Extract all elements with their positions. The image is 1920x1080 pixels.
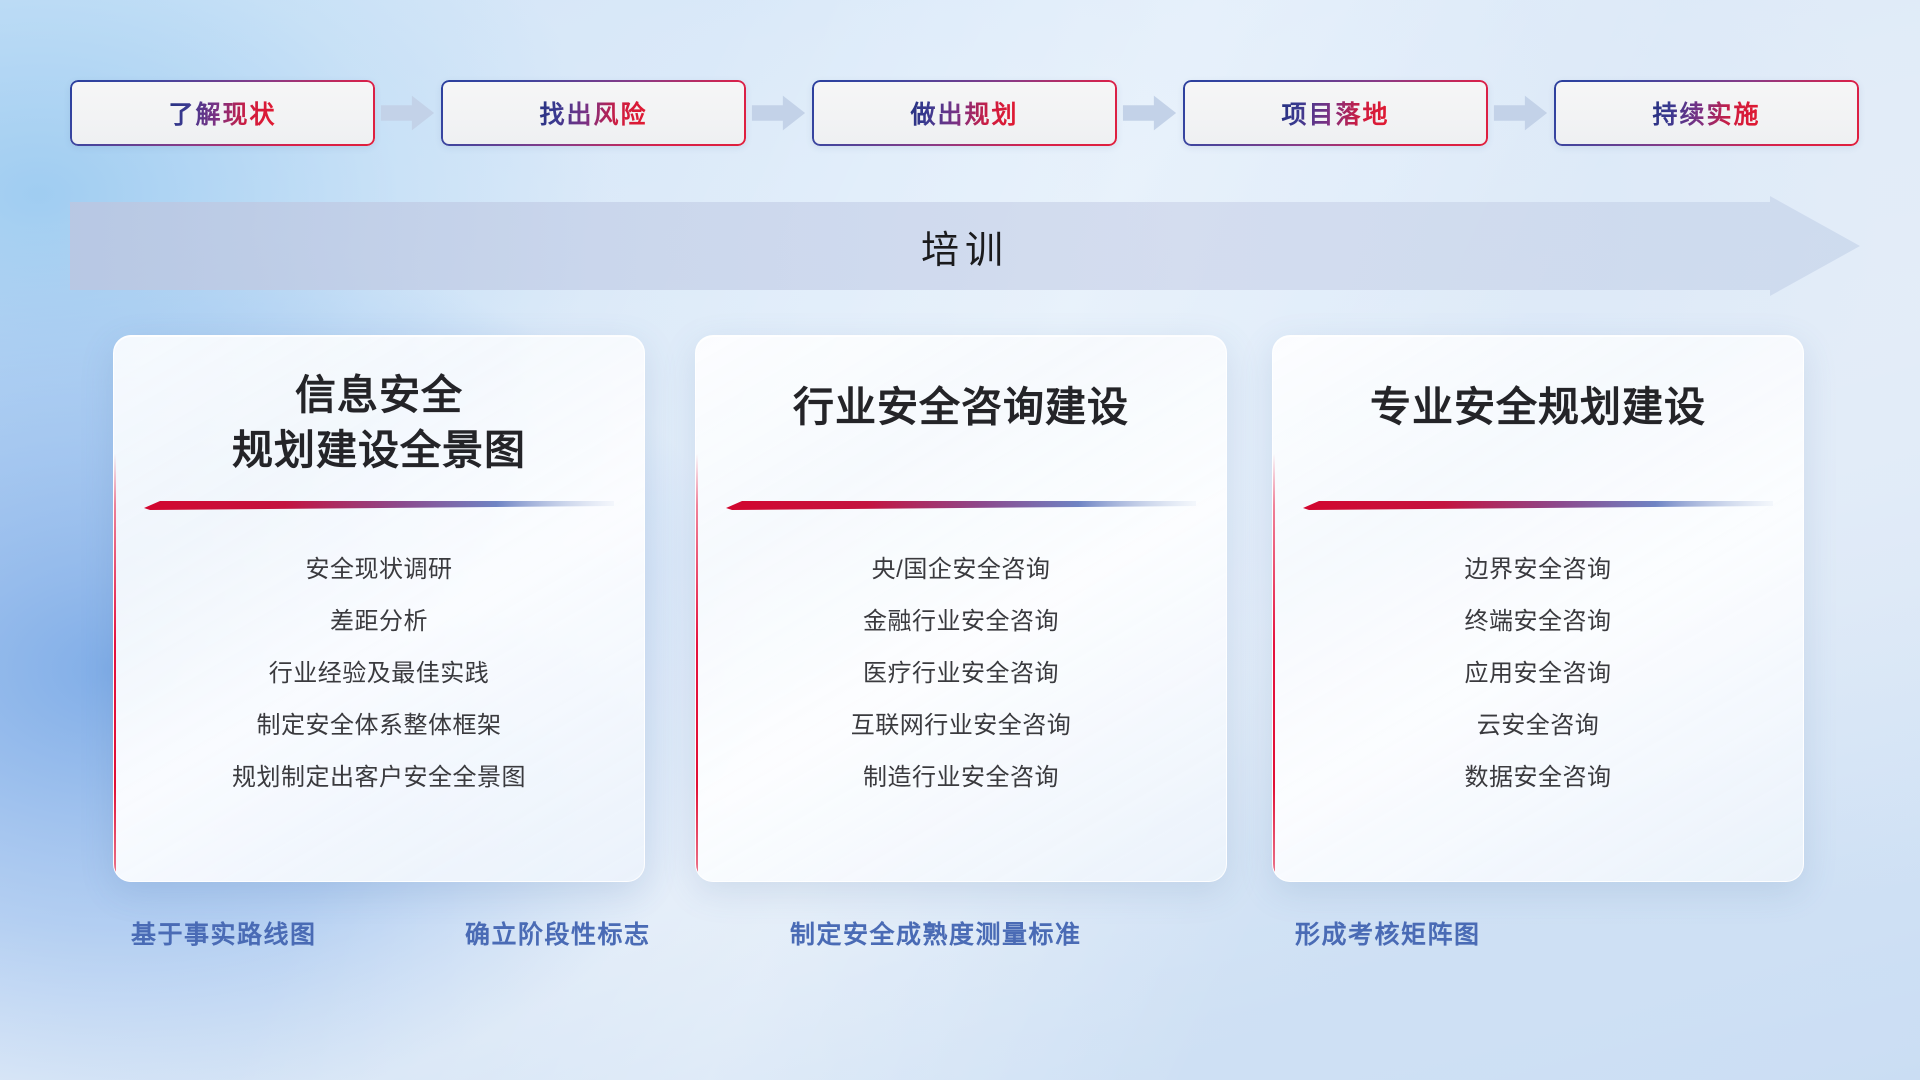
- card-divider: [1303, 499, 1773, 511]
- banner-label-wrap: 培训: [70, 196, 1860, 296]
- card-list-item: 差距分析: [140, 610, 618, 634]
- card-professional-security-planning[interactable]: 专业安全规划建设: [1272, 335, 1804, 882]
- card-divider: [726, 499, 1196, 511]
- caption-text: 形成考核矩阵图: [1295, 915, 1481, 951]
- step-arrow-icon-3: [1117, 92, 1183, 134]
- card-list-item: 终端安全咨询: [1299, 610, 1777, 634]
- card-list-item: 边界安全咨询: [1299, 558, 1777, 582]
- card-list-item: 互联网行业安全咨询: [722, 714, 1200, 738]
- caption-text: 基于事实路线图: [131, 915, 317, 951]
- process-step-3[interactable]: 做出规划: [812, 80, 1117, 146]
- card-list-item: 应用安全咨询: [1299, 662, 1777, 686]
- card-information-security-blueprint[interactable]: 信息安全 规划建设全景图: [113, 335, 645, 882]
- caption-text: 制定安全成熟度测量标准: [790, 915, 1082, 951]
- card-title-line: 专业安全规划建设: [1297, 380, 1779, 435]
- process-step-row: 了解现状 找出风险 做出规划 项目落地: [70, 78, 1860, 148]
- card-list-item: 金融行业安全咨询: [722, 610, 1200, 634]
- card-row: 信息安全 规划建设全景图: [0, 335, 1920, 890]
- step-arrow-icon-4: [1488, 92, 1554, 134]
- card-list-item: 央/国企安全咨询: [722, 558, 1200, 582]
- card-title: 行业安全咨询建设: [696, 380, 1226, 435]
- card-title: 信息安全 规划建设全景图: [114, 368, 644, 478]
- card-item-list: 央/国企安全咨询 金融行业安全咨询 医疗行业安全咨询 互联网行业安全咨询 制造行…: [696, 558, 1226, 818]
- card-title-line: 规划建设全景图: [138, 423, 620, 478]
- card-list-item: 制造行业安全咨询: [722, 766, 1200, 790]
- card-title-line: 行业安全咨询建设: [720, 380, 1202, 435]
- card-list-item: 医疗行业安全咨询: [722, 662, 1200, 686]
- slide-canvas: 了解现状 找出风险 做出规划 项目落地: [0, 0, 1920, 1080]
- card-title-line: 信息安全: [138, 368, 620, 423]
- process-step-label: 做出规划: [910, 95, 1018, 131]
- step-arrow-icon-1: [375, 92, 441, 134]
- card-title: 专业安全规划建设: [1273, 380, 1803, 435]
- card-list-item: 安全现状调研: [140, 558, 618, 582]
- card-divider: [144, 499, 614, 511]
- step-arrow-icon-2: [746, 92, 812, 134]
- process-step-1[interactable]: 了解现状: [70, 80, 375, 146]
- card-item-list: 边界安全咨询 终端安全咨询 应用安全咨询 云安全咨询 数据安全咨询: [1273, 558, 1803, 818]
- process-step-label: 了解现状: [168, 95, 276, 131]
- caption-row: 基于事实路线图 确立阶段性标志 制定安全成熟度测量标准 形成考核矩阵图: [0, 915, 1920, 965]
- process-step-label: 项目落地: [1281, 95, 1389, 131]
- card-list-item: 行业经验及最佳实践: [140, 662, 618, 686]
- card-list-item: 云安全咨询: [1299, 714, 1777, 738]
- process-step-5[interactable]: 持续实施: [1554, 80, 1859, 146]
- card-list-item: 规划制定出客户安全全景图: [140, 766, 618, 790]
- training-banner: 培训: [70, 196, 1860, 296]
- card-industry-security-consulting[interactable]: 行业安全咨询建设: [695, 335, 1227, 882]
- card-list-item: 制定安全体系整体框架: [140, 714, 618, 738]
- process-step-4[interactable]: 项目落地: [1183, 80, 1488, 146]
- banner-title: 培训: [921, 219, 1009, 274]
- process-step-label: 持续实施: [1652, 95, 1760, 131]
- caption-text: 确立阶段性标志: [465, 915, 651, 951]
- process-step-label: 找出风险: [539, 95, 647, 131]
- process-step-2[interactable]: 找出风险: [441, 80, 746, 146]
- card-item-list: 安全现状调研 差距分析 行业经验及最佳实践 制定安全体系整体框架 规划制定出客户…: [114, 558, 644, 818]
- card-list-item: 数据安全咨询: [1299, 766, 1777, 790]
